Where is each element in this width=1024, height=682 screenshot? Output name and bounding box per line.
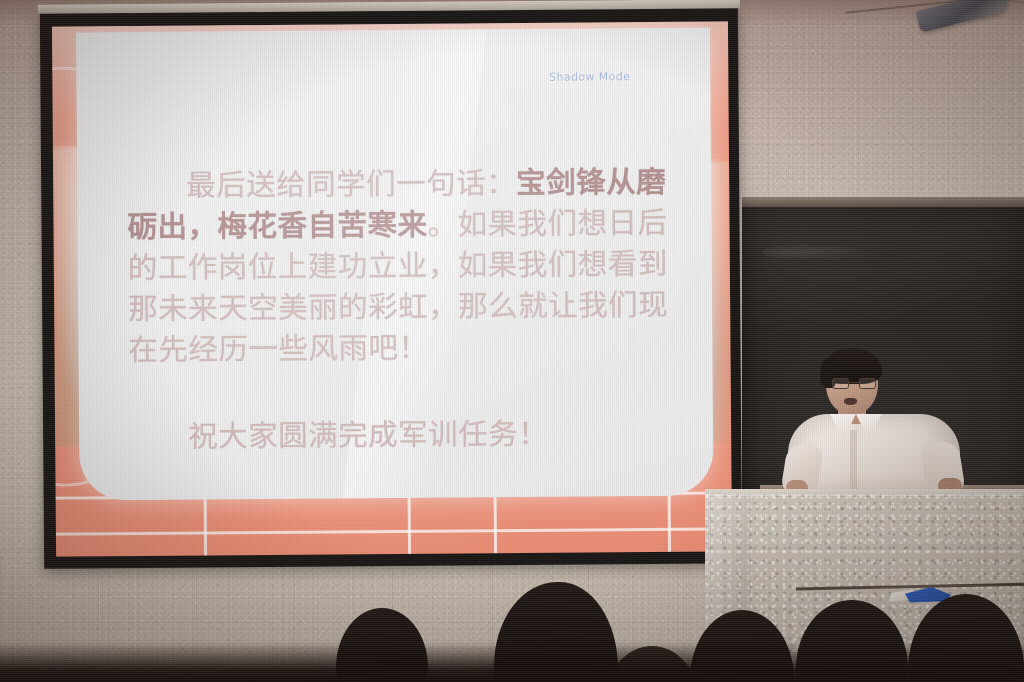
slide-text-segment: 最后送给同学们一句话：: [186, 166, 516, 203]
glasses-bridge: [849, 382, 859, 383]
chalk-smudge: [762, 243, 882, 261]
glasses-right-lens: [859, 378, 876, 389]
track-cross-line: [408, 494, 411, 554]
slide-text-segment: 祝大家圆满完成军训任务！: [188, 417, 548, 454]
ceiling-projector-fixture: [905, 0, 1024, 38]
slide-paragraph-closing: 祝大家圆满完成军训任务！: [129, 413, 673, 458]
track-cross-line: [204, 495, 207, 555]
slide-paragraph-main: 最后送给同学们一句话：宝剑锋从磨砺出，梅花香自苦寒来。如果我们想日后的工作岗位上…: [127, 162, 673, 371]
projection-screen: Shadow Mode 最后送给同学们一句话：宝剑锋从磨砺出，梅花香自苦寒来。如…: [40, 7, 742, 568]
speaker-mouth: [844, 398, 857, 405]
track-lane-line: [56, 527, 732, 535]
track-cross-line: [668, 492, 671, 552]
track-cross-line: [494, 493, 497, 553]
lecture-hall-photo: Shadow Mode 最后送给同学们一句话：宝剑锋从磨砺出，梅花香自苦寒来。如…: [0, 0, 1024, 682]
shadow-mode-badge: Shadow Mode: [549, 70, 630, 84]
slide-text-body: 最后送给同学们一句话：宝剑锋从磨砺出，梅花香自苦寒来。如果我们想日后的工作岗位上…: [127, 162, 673, 458]
audience-row-shadow: [0, 642, 1024, 682]
glasses-left-lens: [832, 378, 849, 389]
screen-frame: Shadow Mode 最后送给同学们一句话：宝剑锋从磨砺出，梅花香自苦寒来。如…: [40, 7, 742, 568]
glasses-icon: [832, 378, 876, 389]
audience-silhouettes: [0, 552, 1024, 682]
presentation-slide: Shadow Mode 最后送给同学们一句话：宝剑锋从磨砺出，梅花香自苦寒来。如…: [52, 21, 732, 556]
speaker-shirt-placket: [850, 430, 857, 492]
